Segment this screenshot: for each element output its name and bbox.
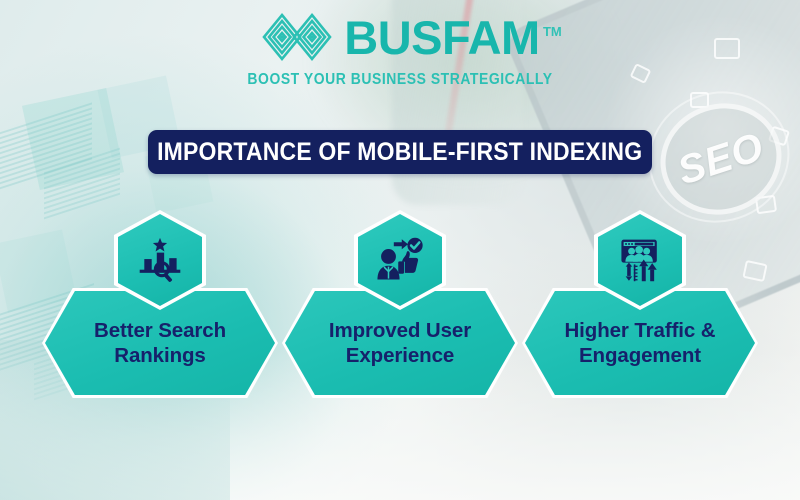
infographic-canvas: SEO bbox=[0, 0, 800, 500]
benefit-card-better-search-rankings[interactable]: Better Search Rankings bbox=[42, 288, 278, 398]
benefit-cards: Better Search Rankings bbox=[0, 0, 800, 500]
card-icon-badge bbox=[354, 210, 446, 310]
card-icon-badge bbox=[114, 210, 206, 310]
browser-audience-growth-arrows-icon bbox=[598, 214, 682, 306]
benefit-card-higher-traffic-engagement[interactable]: Higher Traffic & Engagement bbox=[522, 288, 758, 398]
card-icon-badge bbox=[594, 210, 686, 310]
bar-chart-magnifier-star-icon bbox=[118, 214, 202, 306]
benefit-card-improved-user-experience[interactable]: Improved User Experience bbox=[282, 288, 518, 398]
user-thumbs-up-check-icon bbox=[358, 214, 442, 306]
